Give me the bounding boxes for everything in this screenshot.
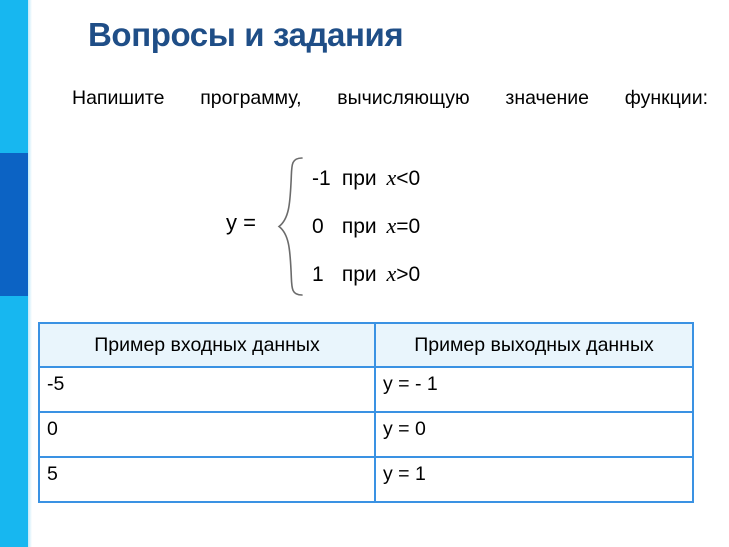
- case-threshold: 0: [409, 263, 421, 286]
- formula-case-row: 1 при x>0: [312, 259, 522, 289]
- case-when-label: при: [340, 167, 381, 190]
- case-condition: x>0: [386, 261, 420, 286]
- table-row: -5 y = - 1: [39, 367, 693, 412]
- case-condition: x=0: [386, 213, 420, 238]
- case-value: 0: [312, 212, 334, 242]
- formula-left-hand-side: y =: [226, 210, 256, 236]
- case-variable: x: [386, 261, 396, 286]
- case-variable: x: [386, 165, 396, 190]
- case-value: 1: [312, 260, 334, 290]
- case-when-label: при: [340, 263, 381, 286]
- examples-table: Пример входных данных Пример выходных да…: [38, 322, 694, 503]
- column-header-input: Пример входных данных: [39, 323, 375, 367]
- column-header-output: Пример выходных данных: [375, 323, 693, 367]
- case-value: -1: [312, 164, 334, 194]
- case-threshold: 0: [409, 215, 421, 238]
- table-header-row: Пример входных данных Пример выходных да…: [39, 323, 693, 367]
- cell-input-value: -5: [39, 367, 375, 412]
- case-variable: x: [386, 213, 396, 238]
- formula-case-row: 0 при x=0: [312, 211, 522, 241]
- table-row: 0 y = 0: [39, 412, 693, 457]
- case-operator: >: [396, 263, 408, 286]
- sidebar-accent-strip-edge: [28, 0, 32, 547]
- case-operator: =: [396, 215, 408, 238]
- cell-output-value: y = 1: [375, 457, 693, 502]
- piecewise-formula: y = -1 при x<0 0 при x=0 1 при x>0: [226, 155, 526, 300]
- formula-cases: -1 при x<0 0 при x=0 1 при x>0: [312, 155, 522, 298]
- formula-case-row: -1 при x<0: [312, 163, 522, 193]
- case-when-label: при: [340, 215, 381, 238]
- case-threshold: 0: [409, 167, 421, 190]
- cell-output-value: y = 0: [375, 412, 693, 457]
- case-condition: x<0: [386, 165, 420, 190]
- sidebar-accent-strip-segment: [0, 153, 30, 296]
- cell-input-value: 5: [39, 457, 375, 502]
- task-description: Напишите программу, вычисляющую значение…: [44, 84, 708, 142]
- cell-output-value: y = - 1: [375, 367, 693, 412]
- table-row: 5 y = 1: [39, 457, 693, 502]
- case-operator: <: [396, 167, 408, 190]
- cell-input-value: 0: [39, 412, 375, 457]
- curly-brace-icon: [276, 155, 306, 298]
- page-title: Вопросы и задания: [88, 16, 403, 54]
